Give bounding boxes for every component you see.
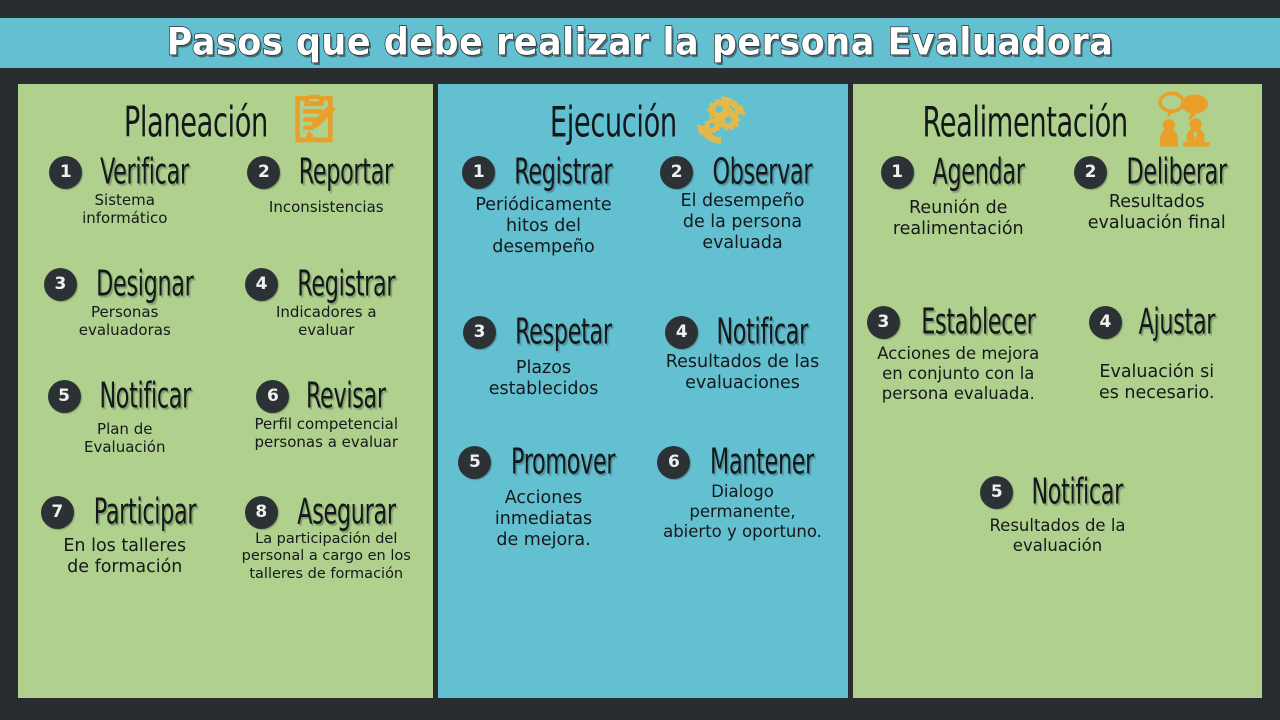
step-description: Periódicamente hitos del desempeño (446, 195, 641, 258)
step-title-row: 6 Mantener (645, 444, 840, 480)
step-number-badge: 3 (44, 268, 77, 301)
step-description: Indicadores a evaluar (228, 303, 426, 339)
step-number-badge: 6 (256, 380, 289, 413)
gears-cycle-icon (692, 91, 750, 153)
step-number-badge: 2 (660, 156, 693, 189)
title-banner: Pasos que debe realizar la persona Evalu… (0, 18, 1280, 68)
step-title-row: 4 Notificar (645, 314, 840, 350)
step-title-row: 1 Verificar (26, 154, 224, 190)
step-item[interactable]: 1 Agendar Reunión de realimentación (859, 154, 1058, 304)
step-title-row: 5 Promover (446, 444, 641, 480)
step-description: Evaluación si es necesario. (1060, 362, 1255, 404)
column-ejecucion: Ejecución (438, 84, 848, 698)
step-description: Acciones inmediatas de mejora. (446, 488, 641, 551)
step-title-row: 5 Notificar (26, 378, 224, 414)
column-heading-realimentacion: Realimentación (859, 92, 1256, 152)
step-title: Reportar (299, 151, 393, 192)
step-number-badge: 1 (462, 156, 495, 189)
step-title: Observar (713, 151, 813, 192)
step-title: Designar (96, 263, 193, 304)
step-description: Plan de Evaluación (26, 420, 224, 456)
step-description: Dialogo permanente, abierto y oportuno. (645, 482, 840, 541)
step-title: Participar (94, 491, 196, 532)
infographic-root: Pasos que debe realizar la persona Evalu… (0, 0, 1280, 720)
step-item[interactable]: 8 Asegurar La participación del personal… (226, 494, 428, 606)
column-realimentacion: Realimentación (853, 84, 1262, 698)
step-title-row: 1 Agendar (861, 154, 1056, 190)
step-description: Inconsistencias (228, 198, 426, 216)
column-heading-planeacion: Planeación (24, 92, 427, 152)
step-title: Notificar (717, 311, 809, 352)
step-title-row: 2 Reportar (228, 154, 426, 190)
step-description: Reunión de realimentación (861, 198, 1056, 240)
step-description: Resultados evaluación final (1060, 192, 1255, 234)
step-title-row: 7 Participar (26, 494, 224, 530)
step-item[interactable]: 4 Registrar Indicadores a evaluar (226, 266, 428, 374)
step-item[interactable]: 6 Revisar Perfil competencial personas a… (226, 378, 428, 490)
step-title-row: 8 Asegurar (228, 494, 426, 530)
step-description: Plazos establecidos (446, 358, 641, 400)
columns-container: Planeación (0, 84, 1280, 709)
step-number-badge: 4 (245, 268, 278, 301)
column-heading-ejecucion: Ejecución (444, 92, 842, 152)
step-number-badge: 1 (881, 156, 914, 189)
step-number-badge: 3 (463, 316, 496, 349)
step-description: El desempeño de la persona evaluada (645, 191, 840, 254)
step-number-badge: 5 (458, 446, 491, 479)
step-description: Resultados de la evaluación (861, 516, 1254, 556)
step-number-badge: 5 (980, 476, 1013, 509)
step-number-badge: 7 (41, 496, 74, 529)
step-item[interactable]: 5 Promover Acciones inmediatas de mejora… (444, 444, 643, 594)
step-title: Verificar (100, 151, 189, 192)
step-number-badge: 4 (665, 316, 698, 349)
step-item[interactable]: 6 Mantener Dialogo permanente, abierto y… (643, 444, 842, 594)
step-number-badge: 6 (657, 446, 690, 479)
step-title: Respetar (515, 311, 612, 352)
column-title: Ejecución (550, 98, 677, 146)
step-item[interactable]: 1 Registrar Periódicamente hitos del des… (444, 154, 643, 314)
step-item[interactable]: 3 Establecer Acciones de mejora en conju… (859, 304, 1058, 474)
step-title-row: 1 Registrar (446, 154, 641, 190)
step-title: Registrar (297, 263, 395, 304)
page-title: Pasos que debe realizar la persona Evalu… (167, 22, 1114, 64)
step-title: Registrar (514, 151, 612, 192)
column-planeacion: Planeación (18, 84, 433, 698)
step-item[interactable]: 5 Notificar Plan de Evaluación (24, 378, 226, 490)
step-title: Promover (511, 441, 615, 482)
steps-list-realimentacion: 1 Agendar Reunión de realimentación 2 De… (859, 154, 1256, 604)
step-title-row: 3 Establecer (861, 304, 1056, 340)
step-title-row: 4 Registrar (228, 266, 426, 302)
step-item[interactable]: 5 Notificar Resultados de la evaluación (859, 474, 1256, 604)
step-description: Resultados de las evaluaciones (645, 352, 840, 394)
step-item[interactable]: 3 Designar Personas evaluadoras (24, 266, 226, 374)
step-description: Sistema informático (26, 191, 224, 227)
step-title-row: 2 Observar (645, 154, 840, 190)
step-title: Agendar (932, 151, 1024, 192)
column-title: Realimentación (923, 98, 1128, 146)
step-item[interactable]: 2 Reportar Inconsistencias (226, 154, 428, 262)
step-number-badge: 5 (48, 380, 81, 413)
step-title: Deliberar (1127, 151, 1227, 192)
steps-list-planeacion: 1 Verificar Sistema informático 2 Report… (24, 154, 427, 610)
step-title: Notificar (99, 375, 191, 416)
step-number-badge: 2 (1074, 156, 1107, 189)
step-title-row: 6 Revisar (228, 378, 426, 414)
column-title: Planeación (123, 98, 267, 146)
step-title-row: 2 Deliberar (1060, 154, 1255, 190)
step-title-row: 5 Notificar (861, 474, 1254, 510)
step-description: En los talleres de formación (26, 536, 224, 578)
step-item[interactable]: 2 Observar El desempeño de la persona ev… (643, 154, 842, 314)
step-description: Perfil competencial personas a evaluar (228, 415, 426, 451)
steps-list-ejecucion: 1 Registrar Periódicamente hitos del des… (444, 154, 842, 594)
step-description: La participación del personal a cargo en… (228, 531, 426, 583)
step-number-badge: 2 (247, 156, 280, 189)
step-title-row: 4 Ajustar (1060, 304, 1255, 340)
step-number-badge: 3 (867, 306, 900, 339)
step-title-row: 3 Designar (26, 266, 224, 302)
step-title-row: 3 Respetar (446, 314, 641, 350)
step-item[interactable]: 1 Verificar Sistema informático (24, 154, 226, 262)
step-title: Mantener (710, 441, 814, 482)
step-title: Asegurar (297, 491, 395, 532)
step-title: Revisar (306, 375, 386, 416)
step-number-badge: 8 (245, 496, 278, 529)
step-item[interactable]: 3 Respetar Plazos establecidos (444, 314, 643, 444)
step-number-badge: 1 (49, 156, 82, 189)
step-title: Ajustar (1138, 301, 1215, 342)
step-description: Acciones de mejora en conjunto con la pe… (861, 344, 1056, 403)
clipboard-pencil-icon (285, 91, 343, 153)
step-number-badge: 4 (1089, 306, 1122, 339)
step-item[interactable]: 2 Deliberar Resultados evaluación final (1058, 154, 1257, 304)
step-item[interactable]: 4 Ajustar Evaluación si es necesario. (1058, 304, 1257, 474)
feedback-meeting-icon (1153, 91, 1215, 153)
step-item[interactable]: 4 Notificar Resultados de las evaluacion… (643, 314, 842, 444)
step-title: Establecer (921, 301, 1035, 342)
step-description: Personas evaluadoras (26, 303, 224, 339)
step-item[interactable]: 7 Participar En los talleres de formació… (24, 494, 226, 606)
step-title: Notificar (1032, 471, 1124, 512)
